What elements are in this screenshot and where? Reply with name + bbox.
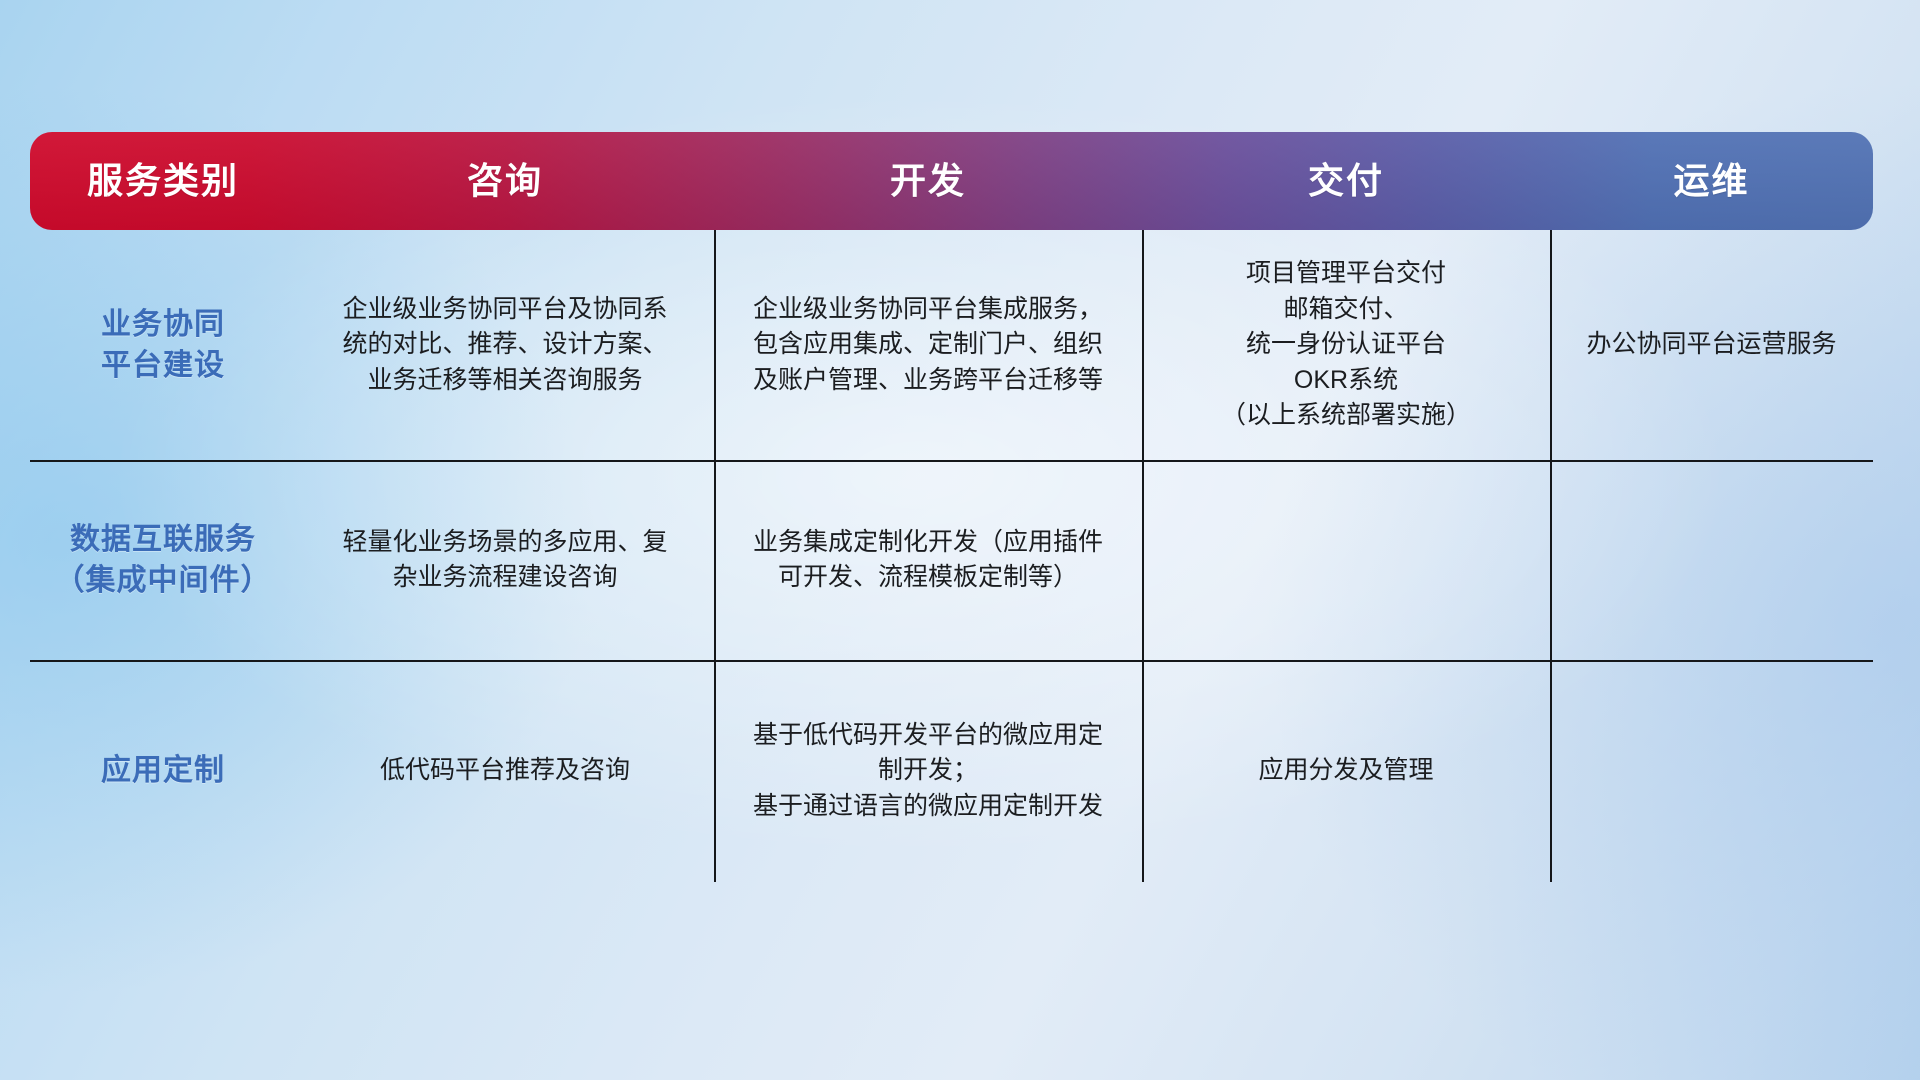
cell-consulting: 低代码平台推荐及咨询 xyxy=(296,660,714,882)
cell-consulting: 轻量化业务场景的多应用、复 杂业务流程建设咨询 xyxy=(296,460,714,660)
column-header-service-category: 服务类别 xyxy=(30,163,296,199)
cell-delivery xyxy=(1142,460,1550,660)
cell-delivery: 应用分发及管理 xyxy=(1142,660,1550,882)
table-body: 业务协同 平台建设 企业级业务协同平台及协同系 统的对比、推荐、设计方案、 业务… xyxy=(30,230,1873,882)
cell-operations: 办公协同平台运营服务 xyxy=(1550,230,1873,460)
table-row: 业务协同 平台建设 企业级业务协同平台及协同系 统的对比、推荐、设计方案、 业务… xyxy=(30,230,1873,460)
column-header-operations: 运维 xyxy=(1550,163,1873,199)
cell-development: 基于低代码开发平台的微应用定 制开发； 基于通过语言的微应用定制开发 xyxy=(714,660,1142,882)
cell-development: 企业级业务协同平台集成服务， 包含应用集成、定制门户、组织 及账户管理、业务跨平… xyxy=(714,230,1142,460)
table-row: 数据互联服务 （集成中间件） 轻量化业务场景的多应用、复 杂业务流程建设咨询 业… xyxy=(30,460,1873,660)
cell-development: 业务集成定制化开发（应用插件 可开发、流程模板定制等） xyxy=(714,460,1142,660)
service-matrix-table: 服务类别 咨询 开发 交付 运维 业务协同 平台建设 企业级业务协同平台及协同系… xyxy=(30,132,1873,882)
cell-operations xyxy=(1550,660,1873,882)
row-category-label: 应用定制 xyxy=(30,660,296,882)
column-header-consulting: 咨询 xyxy=(296,163,714,199)
row-category-label: 数据互联服务 （集成中间件） xyxy=(30,460,296,660)
column-header-delivery: 交付 xyxy=(1142,163,1550,199)
cell-operations xyxy=(1550,460,1873,660)
row-category-label: 业务协同 平台建设 xyxy=(30,230,296,460)
table-header-row: 服务类别 咨询 开发 交付 运维 xyxy=(30,132,1873,230)
column-header-development: 开发 xyxy=(714,163,1142,199)
cell-consulting: 企业级业务协同平台及协同系 统的对比、推荐、设计方案、 业务迁移等相关咨询服务 xyxy=(296,230,714,460)
table-row: 应用定制 低代码平台推荐及咨询 基于低代码开发平台的微应用定 制开发； 基于通过… xyxy=(30,660,1873,882)
cell-delivery: 项目管理平台交付 邮箱交付、 统一身份认证平台 OKR系统 （以上系统部署实施） xyxy=(1142,230,1550,460)
